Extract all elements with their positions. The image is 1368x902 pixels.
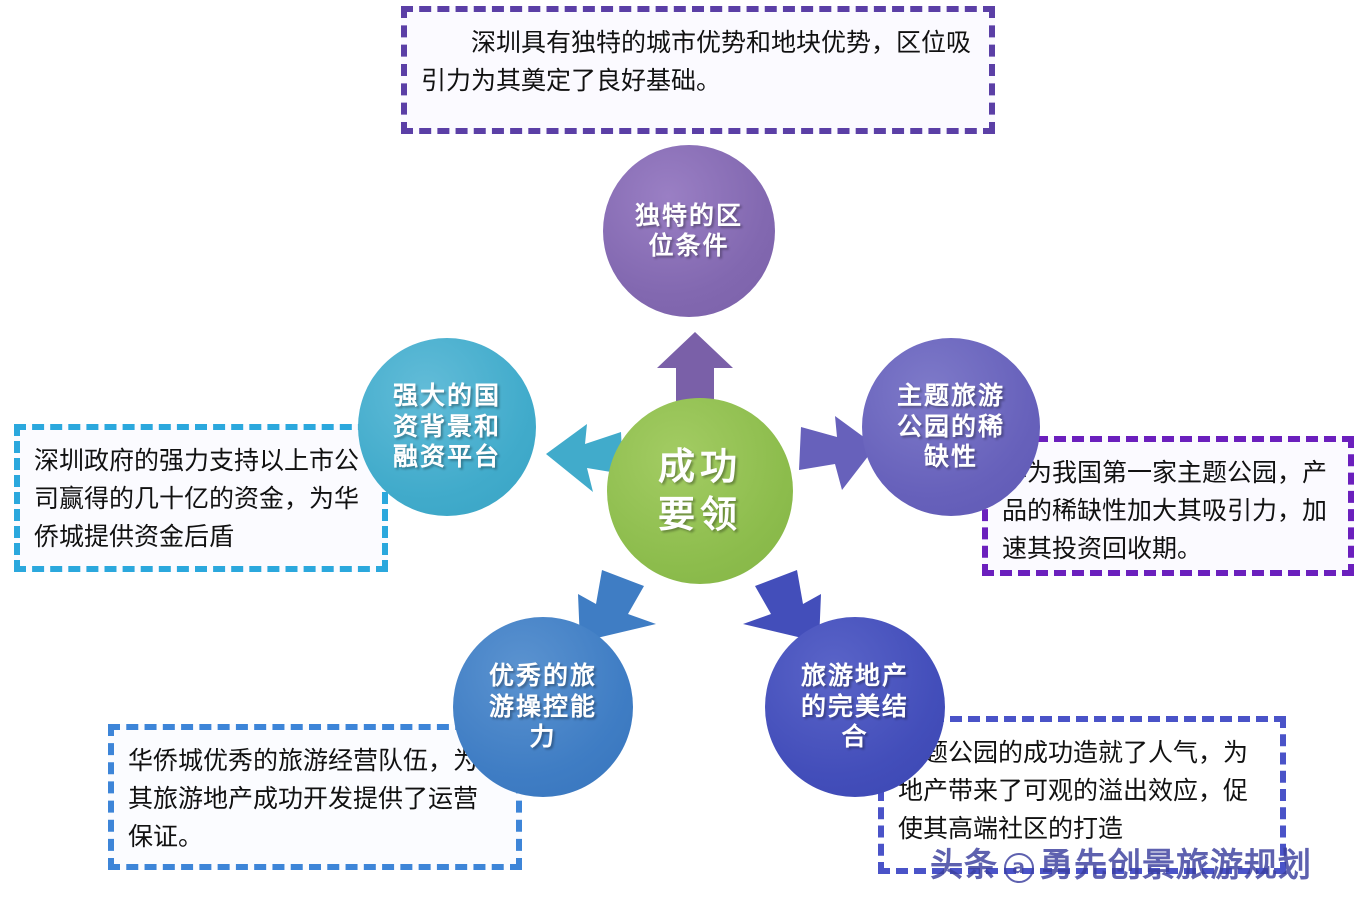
arrow-up-icon — [655, 330, 735, 405]
node-left-label: 强大的国 资背景和 融资平台 — [393, 381, 501, 473]
node-theme-park-scarcity[interactable]: 主题旅游 公园的稀 缺性 — [862, 338, 1040, 516]
node-bottom-right-label: 旅游地产 的完美结 合 — [801, 661, 909, 753]
node-top-label: 独特的区 位条件 — [635, 201, 743, 262]
callout-bottom-left: 华侨城优秀的旅游经营队伍，为其旅游地产成功开发提供了运营保证。 — [108, 724, 522, 870]
callout-right-text: 作为我国第一家主题公园，产品的稀缺性加大其吸引力，加速其投资回收期。 — [1002, 454, 1334, 568]
callout-bottom-right: 主题公园的成功造就了人气，为地产带来了可观的溢出效应，促使其高端社区的打造 — [878, 716, 1286, 874]
callout-left-text: 深圳政府的强力支持以上市公司赢得的几十亿的资金，为华侨城提供资金后盾 — [34, 442, 368, 556]
callout-right: 作为我国第一家主题公园，产品的稀缺性加大其吸引力，加速其投资回收期。 — [982, 436, 1354, 576]
callout-top: 深圳具有独特的城市优势和地块优势，区位吸引力为其奠定了良好基础。 — [401, 6, 995, 134]
node-right-label: 主题旅游 公园的稀 缺性 — [897, 381, 1005, 473]
node-center-success-keys[interactable]: 成功 要领 — [607, 398, 793, 584]
callout-top-text: 深圳具有独特的城市优势和地块优势，区位吸引力为其奠定了良好基础。 — [421, 24, 975, 100]
node-bottom-left-label: 优秀的旅 游操控能 力 — [489, 661, 597, 753]
node-tourism-operation-capability[interactable]: 优秀的旅 游操控能 力 — [453, 617, 633, 797]
node-tourism-realestate-integration[interactable]: 旅游地产 的完美结 合 — [765, 617, 945, 797]
callout-left: 深圳政府的强力支持以上市公司赢得的几十亿的资金，为华侨城提供资金后盾 — [14, 424, 388, 572]
node-unique-location[interactable]: 独特的区 位条件 — [603, 145, 775, 317]
node-center-label: 成功 要领 — [658, 443, 742, 539]
node-state-capital-backing[interactable]: 强大的国 资背景和 融资平台 — [358, 338, 536, 516]
callout-bottom-right-text: 主题公园的成功造就了人气，为地产带来了可观的溢出效应，促使其高端社区的打造 — [898, 734, 1266, 848]
diagram-canvas: 深圳具有独特的城市优势和地块优势，区位吸引力为其奠定了良好基础。 深圳政府的强力… — [0, 0, 1368, 902]
callout-bottom-left-text: 华侨城优秀的旅游经营队伍，为其旅游地产成功开发提供了运营保证。 — [128, 742, 502, 856]
